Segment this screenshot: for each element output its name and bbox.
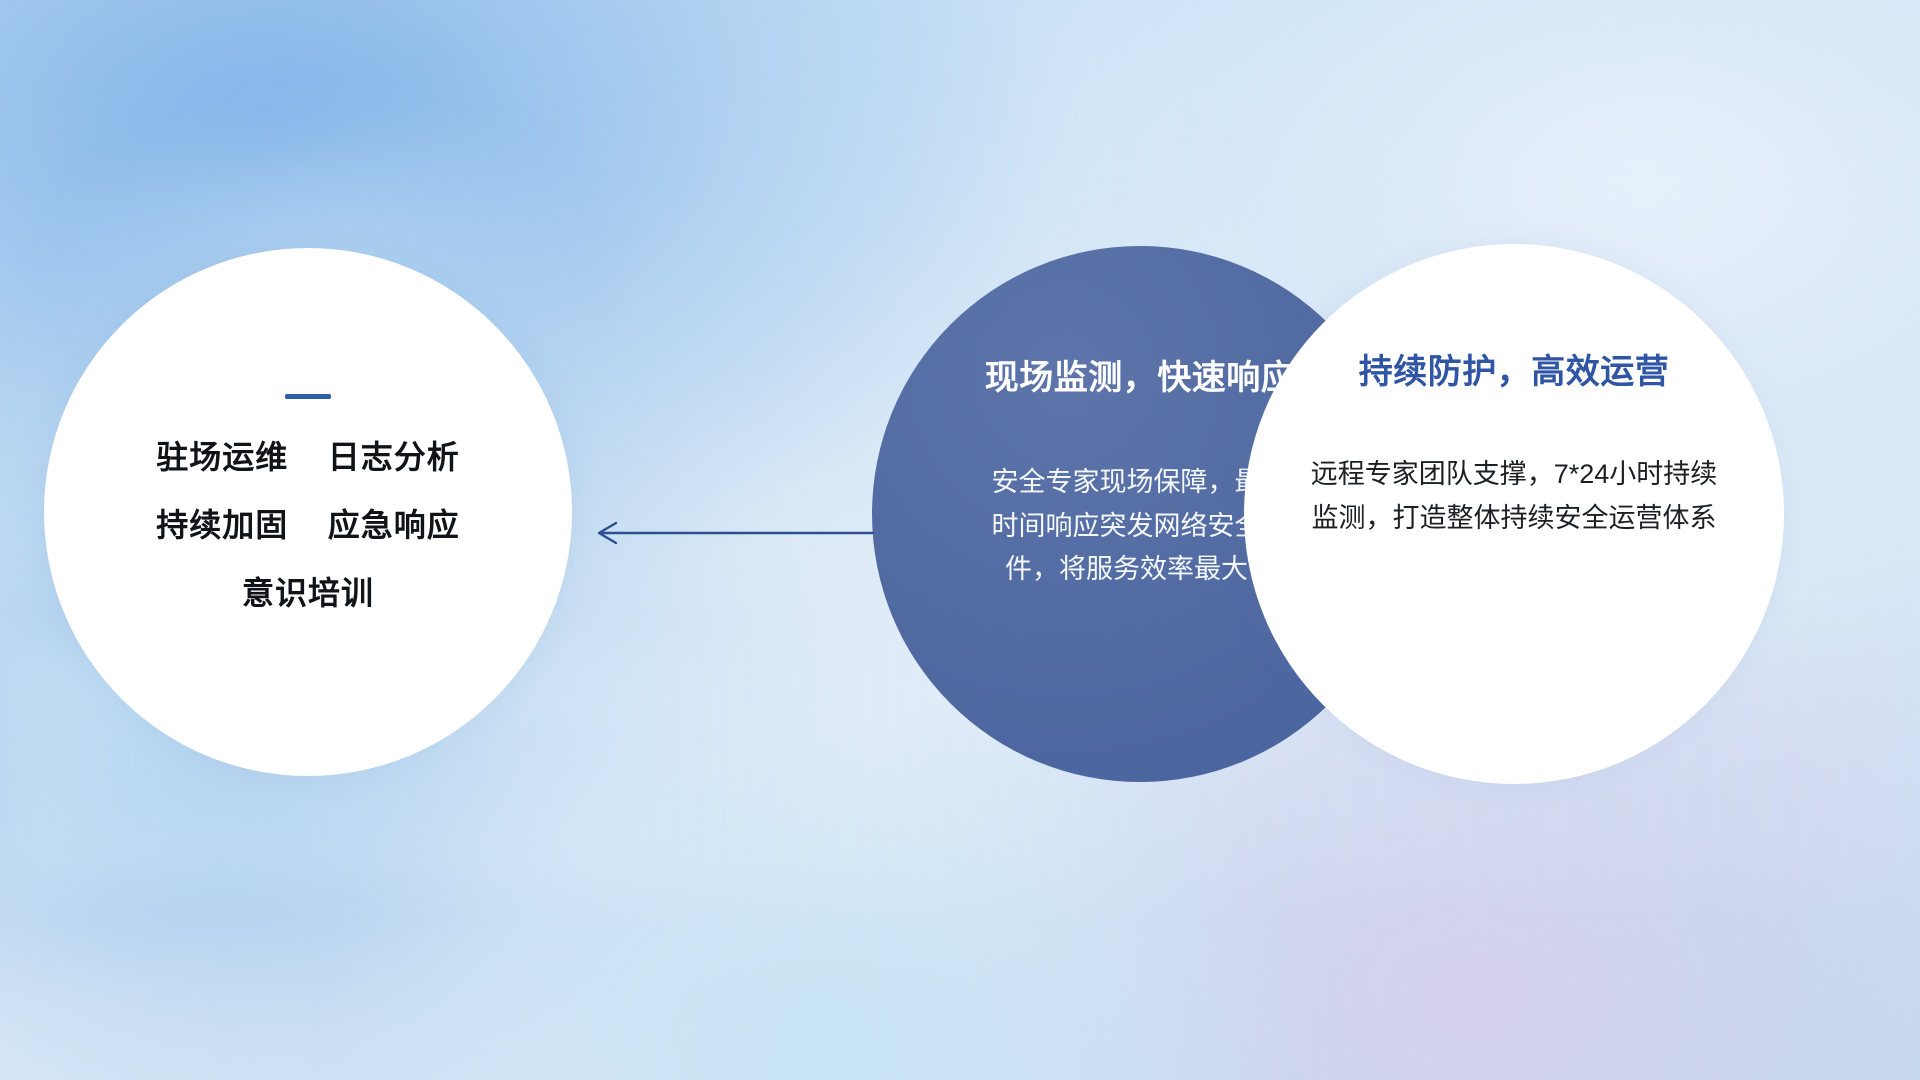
capability-line-3: 意识培训 (44, 577, 572, 609)
onsite-monitoring-title: 现场监测，快速响应 (985, 350, 1296, 399)
arrow-left-icon (586, 520, 876, 546)
continuous-protection-title: 持续防护，高效运营 (1359, 344, 1670, 393)
capability-list: 驻场运维 日志分析 持续加固 应急响应 意识培训 (44, 441, 572, 609)
circle-capabilities[interactable]: 驻场运维 日志分析 持续加固 应急响应 意识培训 (44, 248, 572, 776)
circle-continuous-protection[interactable]: 持续防护，高效运营 远程专家团队支撑，7*24小时持续监测，打造整体持续安全运营… (1244, 244, 1784, 784)
capability-line-1: 驻场运维 日志分析 (44, 441, 572, 473)
dash-divider-icon (285, 394, 331, 399)
capability-line-2: 持续加固 应急响应 (44, 509, 572, 541)
diagram-stage: 驻场运维 日志分析 持续加固 应急响应 意识培训 现场监测，快速响应 安全专家现… (0, 0, 1920, 1080)
continuous-protection-body: 远程专家团队支撑，7*24小时持续监测，打造整体持续安全运营体系 (1299, 453, 1729, 540)
